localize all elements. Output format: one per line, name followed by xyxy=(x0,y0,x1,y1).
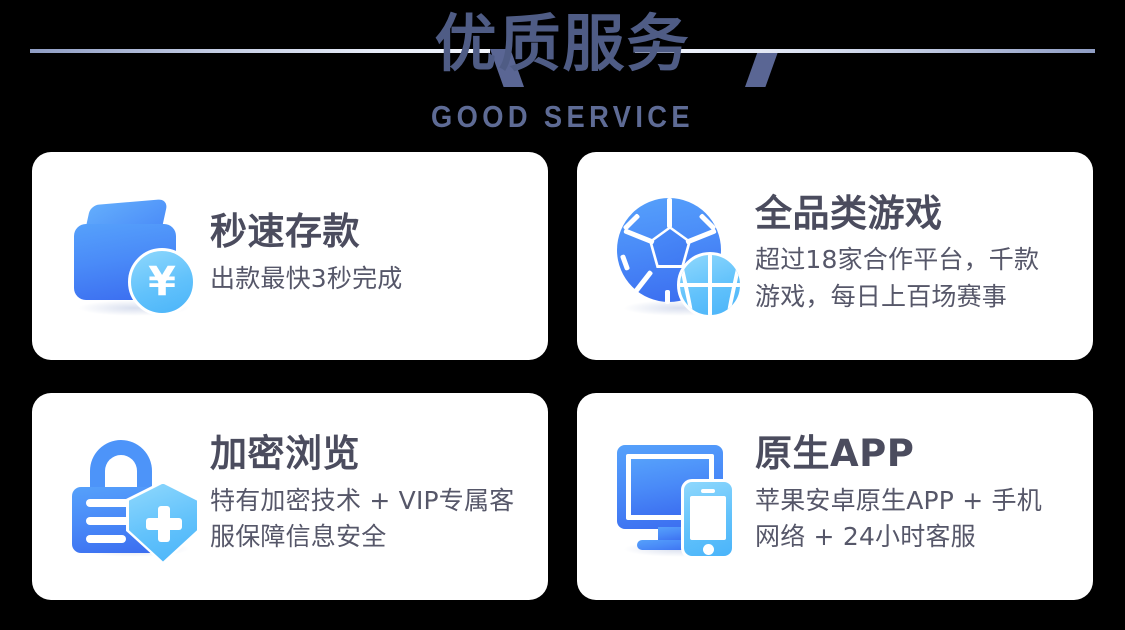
yen-coin-icon: ¥ xyxy=(128,248,196,316)
card-title: 全品类游戏 xyxy=(755,193,1039,236)
card-description: 特有加密技术 + VIP专属客 服保障信息安全 xyxy=(210,483,514,556)
card-desc-line: 服保障信息安全 xyxy=(210,519,514,556)
basketball-icon xyxy=(677,252,743,318)
card-desc-line: 特有加密技术 + VIP专属客 xyxy=(210,483,514,520)
card-desc-line: 超过18家合作平台，千款 xyxy=(755,242,1039,279)
page-subtitle: GOOD SERVICE xyxy=(68,99,1058,135)
feature-card-encrypted-browsing[interactable]: 加密浏览 特有加密技术 + VIP专属客 服保障信息安全 xyxy=(32,393,548,600)
card-text-block: 原生APP 苹果安卓原生APP + 手机 网络 + 24小时客服 xyxy=(755,433,1042,560)
feature-card-all-games[interactable]: 全品类游戏 超过18家合作平台，千款 游戏，每日上百场赛事 xyxy=(577,152,1093,360)
card-description: 出款最快3秒完成 xyxy=(210,261,403,298)
card-title: 原生APP xyxy=(755,433,1042,476)
card-title: 加密浏览 xyxy=(210,433,514,476)
card-text-block: 加密浏览 特有加密技术 + VIP专属客 服保障信息安全 xyxy=(210,433,514,560)
promo-banner: 优质服务 GOOD SERVICE ¥ 秒速存款 出款最快3秒完成 xyxy=(0,0,1125,630)
card-description: 苹果安卓原生APP + 手机 网络 + 24小时客服 xyxy=(755,483,1042,556)
monitor-phone-icon xyxy=(611,435,747,559)
card-title: 秒速存款 xyxy=(210,211,403,254)
soccer-basketball-icon xyxy=(611,194,747,318)
banner-header: 优质服务 GOOD SERVICE xyxy=(0,0,1125,145)
card-desc-line: 游戏，每日上百场赛事 xyxy=(755,279,1039,316)
lock-shield-icon xyxy=(66,435,202,559)
phone-home-button xyxy=(703,544,714,555)
phone-screen xyxy=(690,496,726,540)
card-text-block: 全品类游戏 超过18家合作平台，千款 游戏，每日上百场赛事 xyxy=(755,193,1039,320)
feature-card-native-app[interactable]: 原生APP 苹果安卓原生APP + 手机 网络 + 24小时客服 xyxy=(577,393,1093,600)
feature-card-fast-deposit[interactable]: ¥ 秒速存款 出款最快3秒完成 xyxy=(32,152,548,360)
card-desc-line: 网络 + 24小时客服 xyxy=(755,519,1042,556)
phone-icon xyxy=(681,479,735,559)
page-title: 优质服务 xyxy=(0,7,1125,80)
feature-card-grid: ¥ 秒速存款 出款最快3秒完成 xyxy=(32,152,1093,600)
card-text-block: 秒速存款 出款最快3秒完成 xyxy=(210,211,403,301)
phone-speaker xyxy=(701,489,715,493)
card-description: 超过18家合作平台，千款 游戏，每日上百场赛事 xyxy=(755,242,1039,315)
card-desc-line: 苹果安卓原生APP + 手机 xyxy=(755,483,1042,520)
wallet-coin-icon: ¥ xyxy=(66,194,202,318)
yen-symbol: ¥ xyxy=(131,251,193,313)
card-desc-line: 出款最快3秒完成 xyxy=(210,261,403,298)
